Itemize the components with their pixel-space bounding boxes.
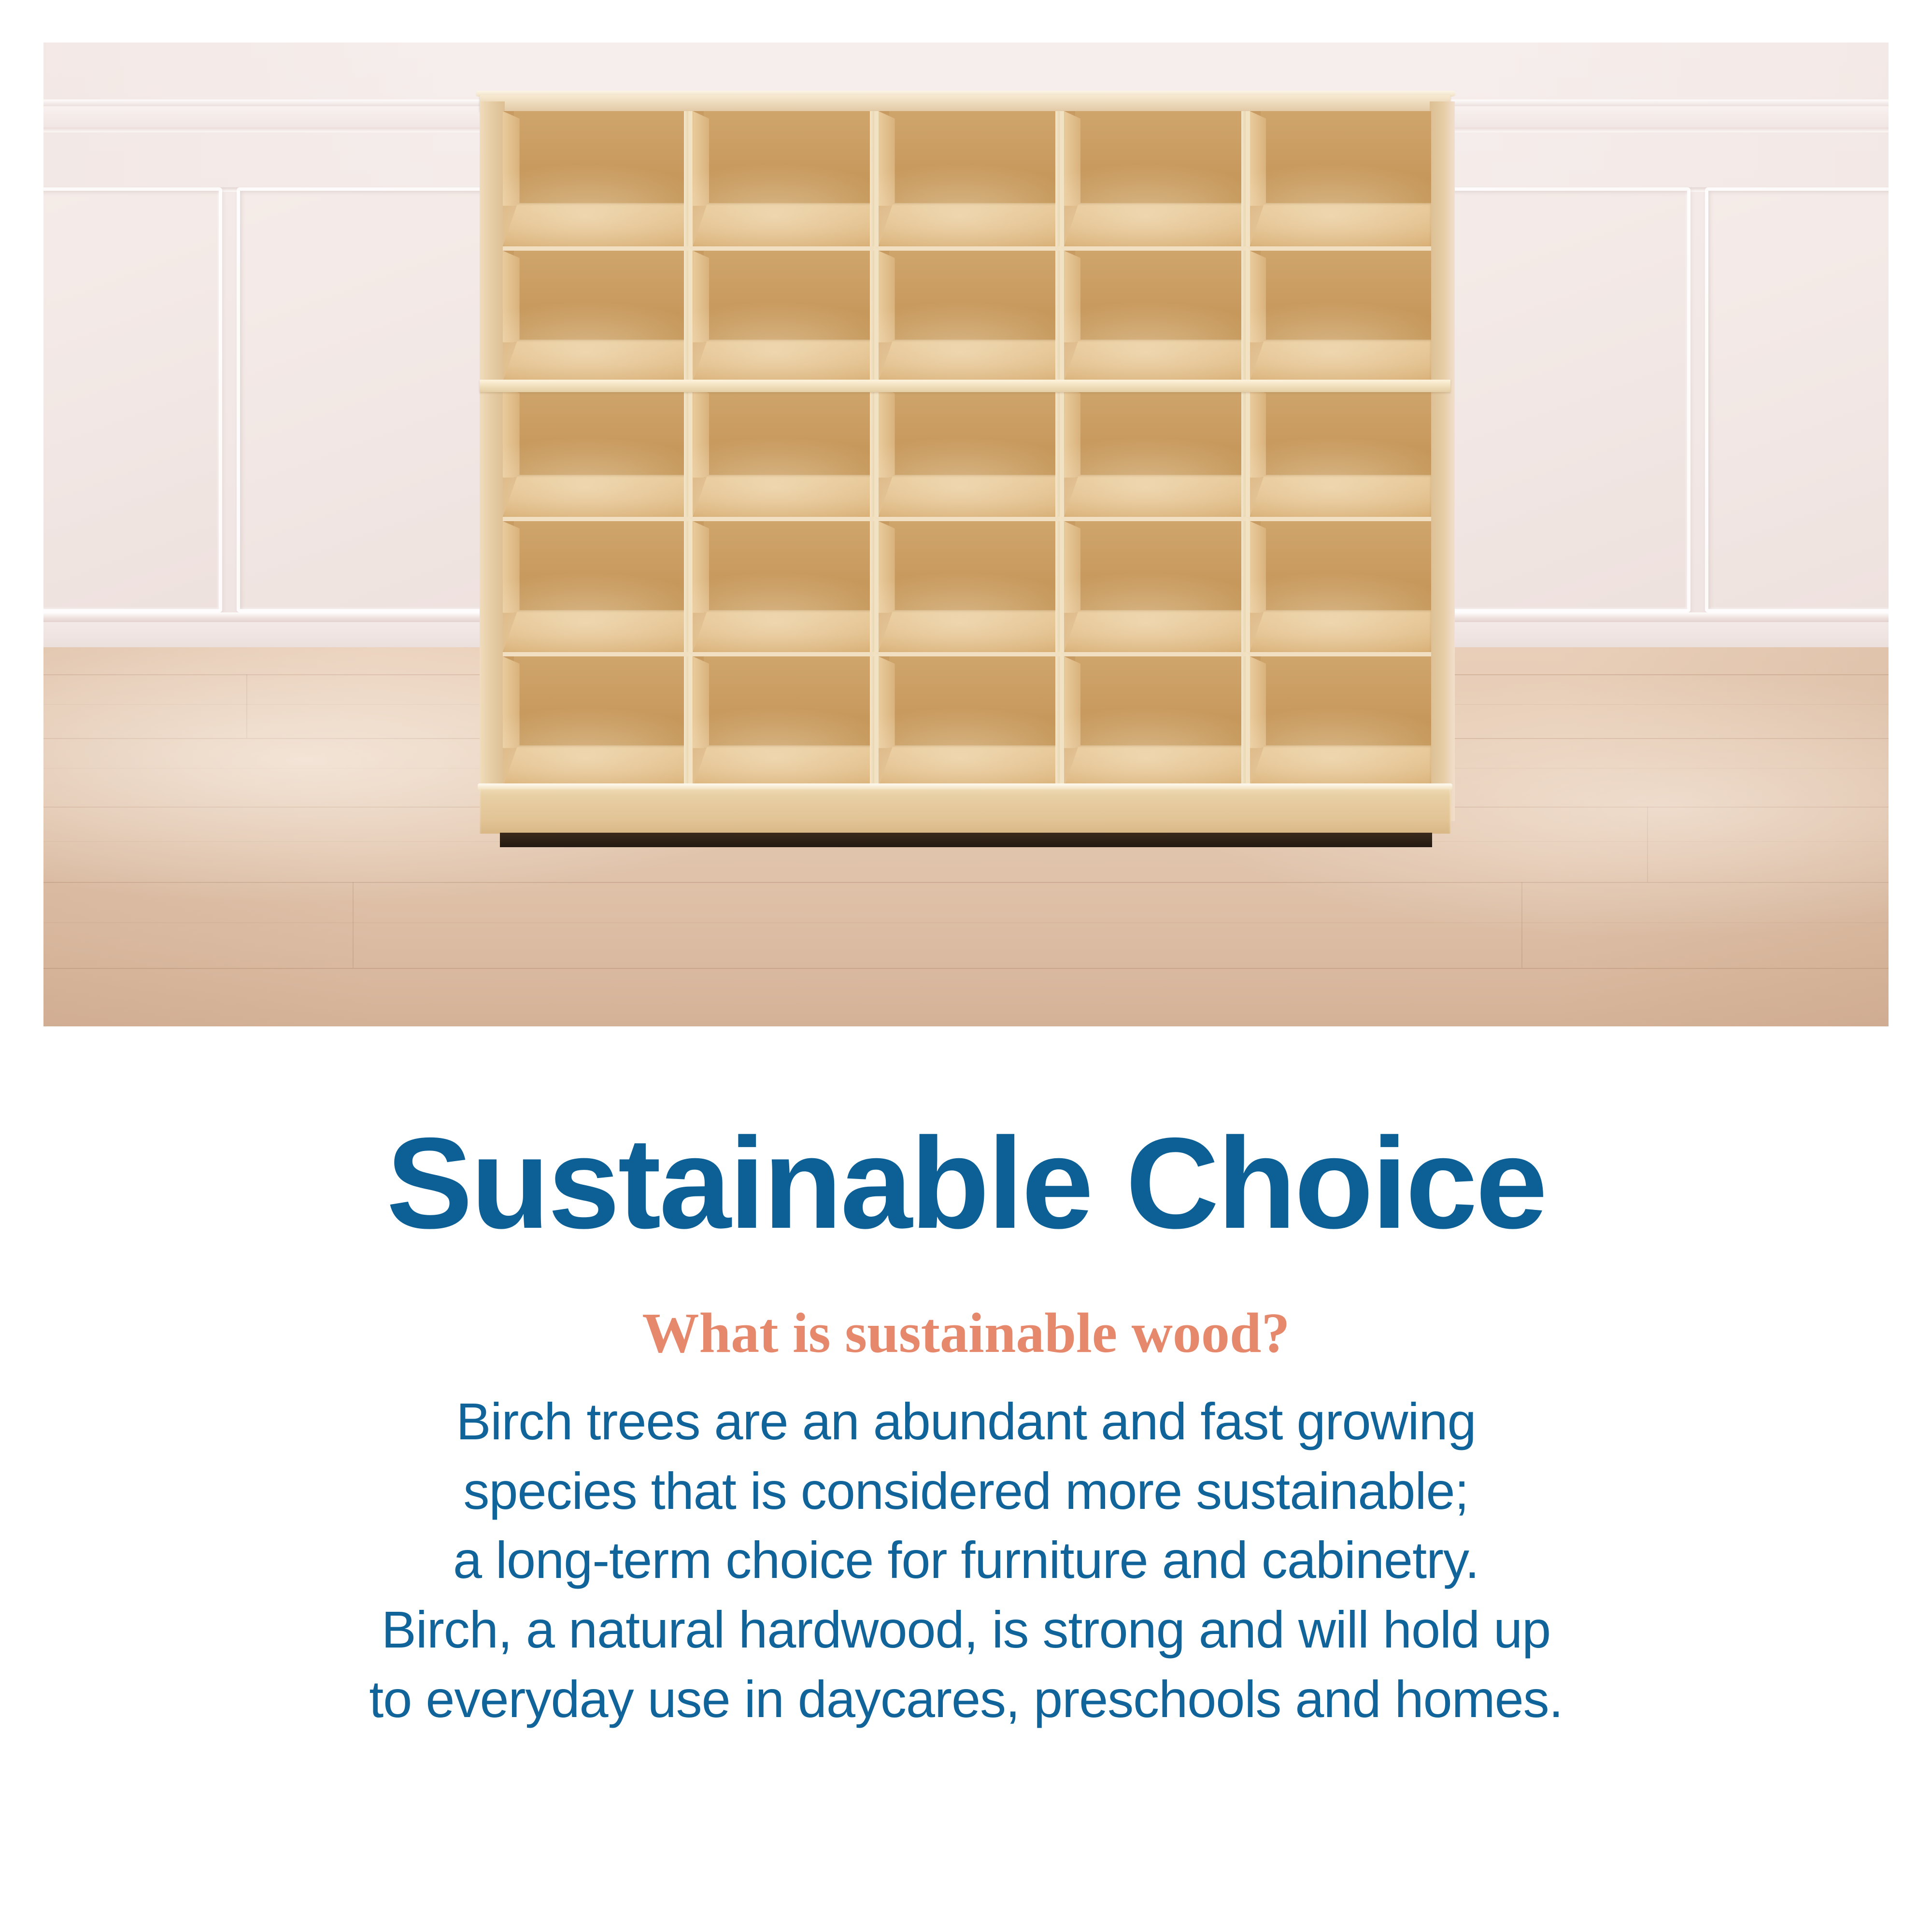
base-toe-kick-panel: ECR 4KIDS (480, 787, 1450, 834)
copy-block: Sustainable Choice What is sustainable w… (0, 1026, 1932, 1733)
body-line: a long-term choice for furniture and cab… (0, 1525, 1932, 1595)
cubby-cell (688, 517, 874, 652)
cubby-cell (688, 652, 874, 787)
cubby-cell (1246, 111, 1431, 246)
body-line: species that is considered more sustaina… (0, 1456, 1932, 1526)
cubby-cell (1246, 652, 1431, 787)
cubby-cell (874, 517, 1060, 652)
top-panel (480, 95, 1450, 111)
page-title: Sustainable Choice (0, 1118, 1932, 1248)
cubby-storage-unit: ECR 4KIDS (471, 67, 1463, 852)
cubby-cell (1060, 517, 1245, 652)
cubby-cell (1060, 652, 1245, 787)
cubby-cell (1060, 246, 1245, 382)
cubby-cell (503, 111, 688, 246)
right-side-panel (1430, 101, 1455, 821)
body-paragraph: Birch trees are an abundant and fast gro… (0, 1387, 1932, 1733)
cubby-cell (874, 652, 1060, 787)
wainscot-panel (43, 187, 222, 612)
cubby-cell (503, 652, 688, 787)
cubby-cell (874, 111, 1060, 246)
cubby-cell (874, 382, 1060, 517)
cubby-grid (503, 111, 1431, 787)
wainscot-panel (1705, 187, 1889, 612)
left-side-panel (480, 101, 505, 821)
cubby-cell (1246, 246, 1431, 382)
cubby-cell (1246, 382, 1431, 517)
cubby-cell (874, 246, 1060, 382)
base-shadow-gap (500, 833, 1432, 847)
cubby-cell (1060, 382, 1245, 517)
cubby-cell (688, 382, 874, 517)
cubby-cell (1246, 517, 1431, 652)
cubby-cell (688, 246, 874, 382)
body-line: Birch trees are an abundant and fast gro… (0, 1387, 1932, 1456)
body-line: Birch, a natural hardwood, is strong and… (0, 1595, 1932, 1664)
body-line: to everyday use in daycares, preschools … (0, 1664, 1932, 1734)
cubby-cell (503, 517, 688, 652)
cubby-cell (688, 111, 874, 246)
product-photo: ECR 4KIDS (43, 43, 1889, 1026)
section-question: What is sustainable wood? (0, 1305, 1932, 1362)
cubby-cell (1060, 111, 1245, 246)
cubby-cell (503, 382, 688, 517)
structural-shelf-rail (480, 380, 1450, 392)
cubby-cell (503, 246, 688, 382)
promo-card: ECR 4KIDS Sustainable Choice What is sus… (0, 0, 1932, 1932)
